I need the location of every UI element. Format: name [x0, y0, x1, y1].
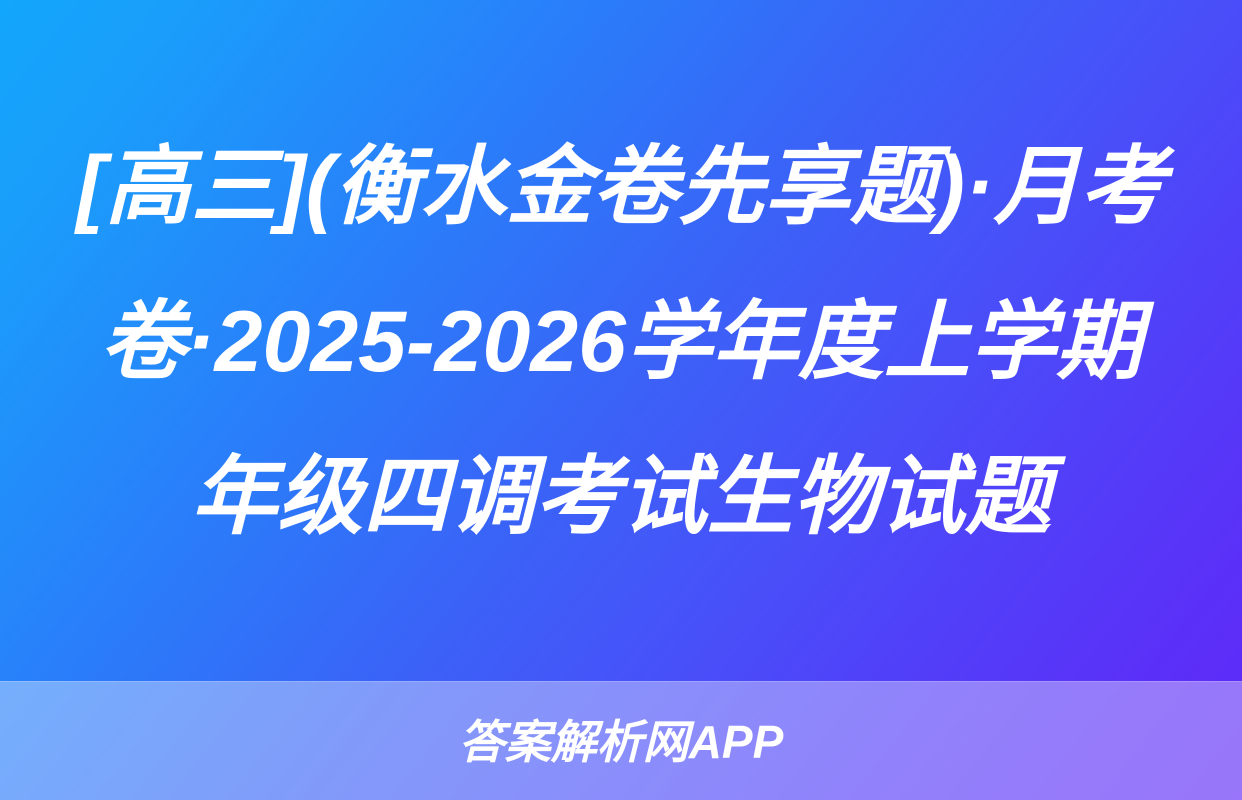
page-title: [高三](衡水金卷先享题)·月考卷·2025-2026学年度上学期年级四调考试生… — [64, 110, 1178, 575]
exam-cover-banner: [高三](衡水金卷先享题)·月考卷·2025-2026学年度上学期年级四调考试生… — [0, 0, 1242, 800]
app-watermark: 答案解析网APP — [459, 719, 784, 765]
watermark-band: 答案解析网APP — [0, 681, 1242, 800]
title-area: [高三](衡水金卷先享题)·月考卷·2025-2026学年度上学期年级四调考试生… — [0, 0, 1242, 681]
